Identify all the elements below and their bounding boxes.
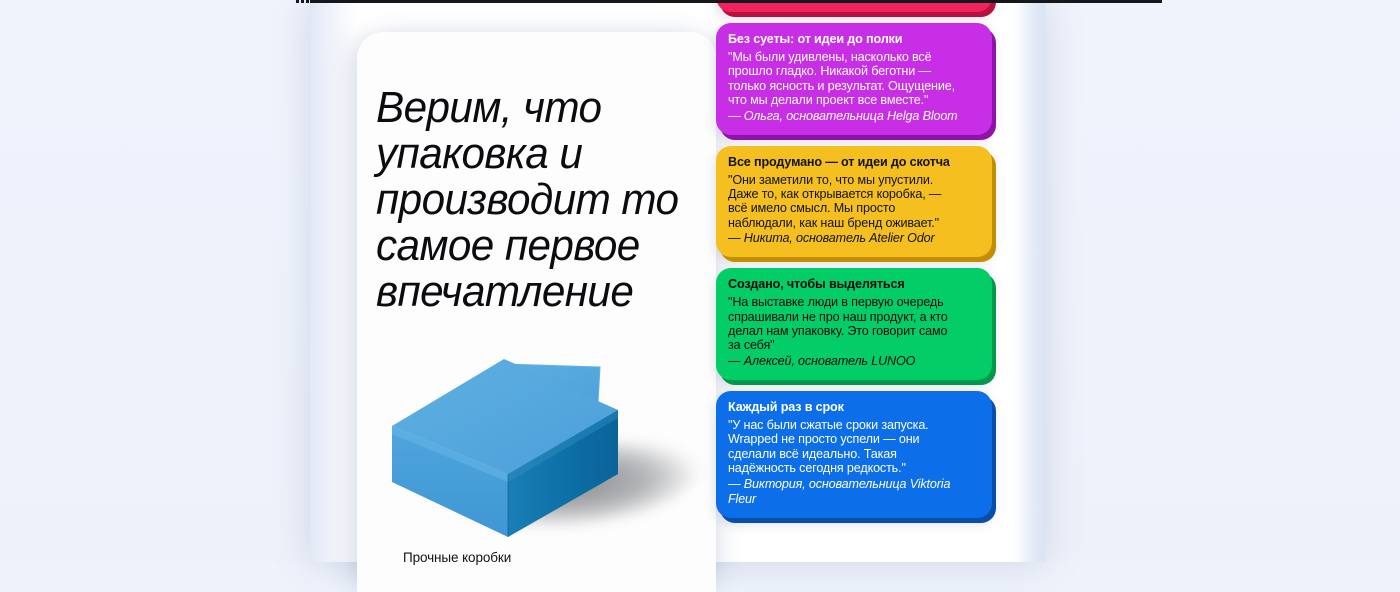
testimonial-author: — Ольга, основательница Helga Bloom bbox=[728, 109, 978, 124]
top-divider-rule bbox=[310, 0, 1162, 3]
testimonial-title: Каждый раз в срок bbox=[728, 400, 978, 415]
testimonial-quote: "На выставке люди в первую очередь спраш… bbox=[728, 295, 978, 353]
testimonial-card-yellow[interactable]: Все продумано — от идеи до скотча "Они з… bbox=[716, 146, 992, 258]
testimonial-title: Все продумано — от идеи до скотча bbox=[728, 155, 978, 170]
box-illustration bbox=[365, 322, 710, 552]
testimonial-quote: "Они заметили то, что мы упустили. Даже … bbox=[728, 173, 978, 231]
testimonial-card-purple[interactable]: Без суеты: от идеи до полки "Мы были уди… bbox=[716, 23, 992, 135]
illustration-caption: Прочные коробки bbox=[403, 550, 511, 566]
testimonial-author: — Алексей, основатель LUNOO bbox=[728, 354, 978, 369]
testimonial-card-green[interactable]: Создано, чтобы выделяться "На выставке л… bbox=[716, 268, 992, 380]
page-title: Верим, что упаковка и производит то само… bbox=[376, 85, 693, 315]
testimonial-quote: "Мы были удивлены, насколько всё прошло … bbox=[728, 50, 978, 108]
testimonial-title: Без суеты: от идеи до полки bbox=[728, 32, 978, 47]
testimonial-author: — Никита, основатель Atelier Odor bbox=[728, 231, 978, 246]
testimonial-author: — Виктория, основательница Viktoria Fleu… bbox=[728, 477, 978, 507]
testimonial-title: Создано, чтобы выделяться bbox=[728, 277, 978, 292]
testimonials-column: Без суеты: от идеи до полки "Мы были уди… bbox=[716, 0, 1006, 529]
testimonial-card-blue[interactable]: Каждый раз в срок "У нас были сжатые сро… bbox=[716, 391, 992, 518]
hero-card: Верим, что упаковка и производит то само… bbox=[357, 32, 716, 592]
testimonial-quote: "У нас были сжатые сроки запуска. Wrappe… bbox=[728, 418, 978, 476]
isometric-box-icon bbox=[365, 322, 710, 552]
